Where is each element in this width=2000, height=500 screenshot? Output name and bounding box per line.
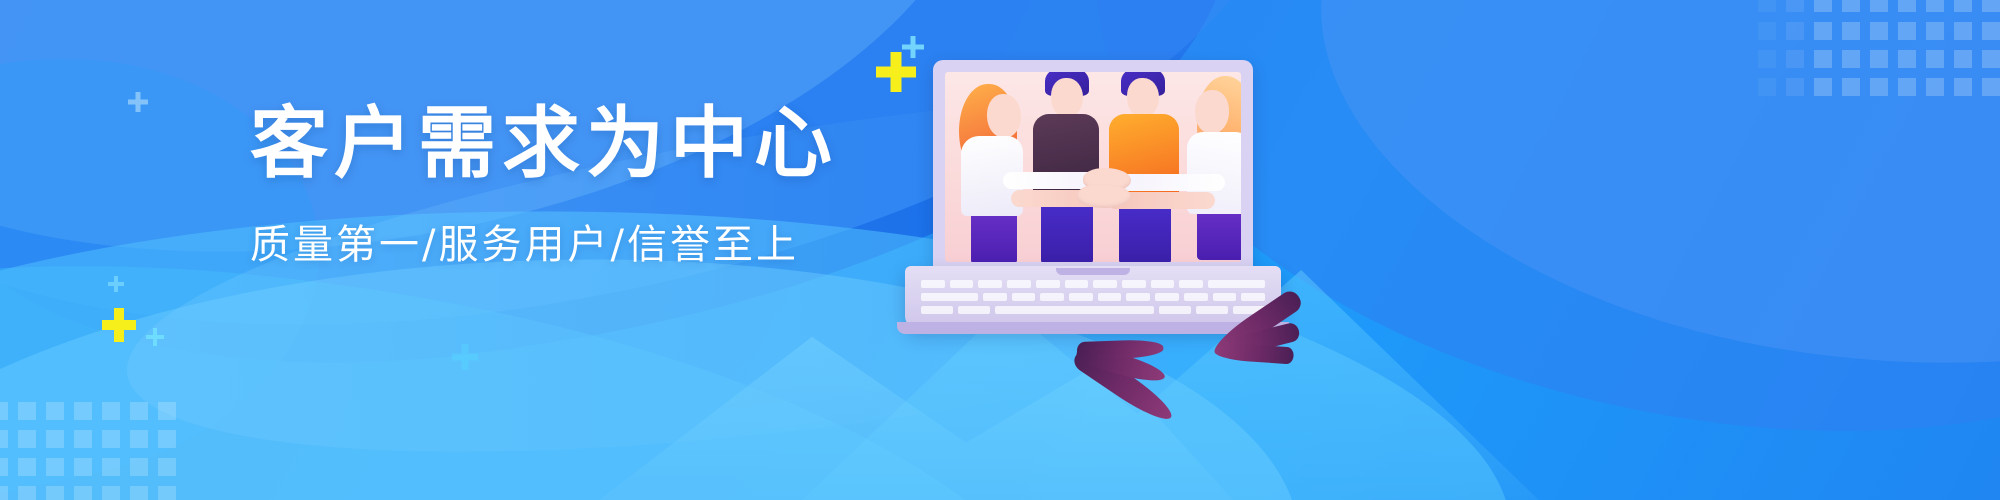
person-man-orange-blazer [1103,72,1187,262]
person-man-dark-shirt [1027,72,1107,262]
plus-icon-cyan-top [902,36,924,58]
plus-icon-cyan-low [452,344,478,370]
head [1127,78,1159,118]
head [1195,90,1229,134]
banner-text-block: 客户需求为中心 质量第一/服务用户/信誉至上 [250,104,890,270]
plus-icon-cyan-mid [108,276,124,292]
person-woman-orange-hair [951,80,1037,262]
laptop-illustration [905,60,1305,350]
leaf-icon-6 [1214,342,1294,364]
square-grid-bottom-left [0,402,176,500]
leaf-icon-3 [1077,339,1164,360]
head [1051,78,1083,118]
laptop-lid [933,60,1253,270]
plus-icon-cyan-upper-left [128,92,148,112]
promo-banner: 客户需求为中心 质量第一/服务用户/信誉至上 [0,0,2000,500]
square-grid-top-right [1758,0,2000,96]
stacked-hands-group [1063,168,1159,212]
plus-icon-cyan-bottom-left [146,328,164,346]
banner-headline: 客户需求为中心 [250,104,890,186]
head [987,94,1021,138]
wave-right-blue [1275,0,2000,451]
banner-subtitle: 质量第一/服务用户/信誉至上 [250,212,890,270]
hand-bottom [1077,184,1131,208]
laptop-screen [945,72,1241,262]
leaf-fronds-right [1211,256,1331,356]
plus-icon-yellow-bottom-left [102,308,136,342]
laptop-hinge-notch [1056,268,1130,275]
person-woman-light-hair [1181,74,1241,262]
